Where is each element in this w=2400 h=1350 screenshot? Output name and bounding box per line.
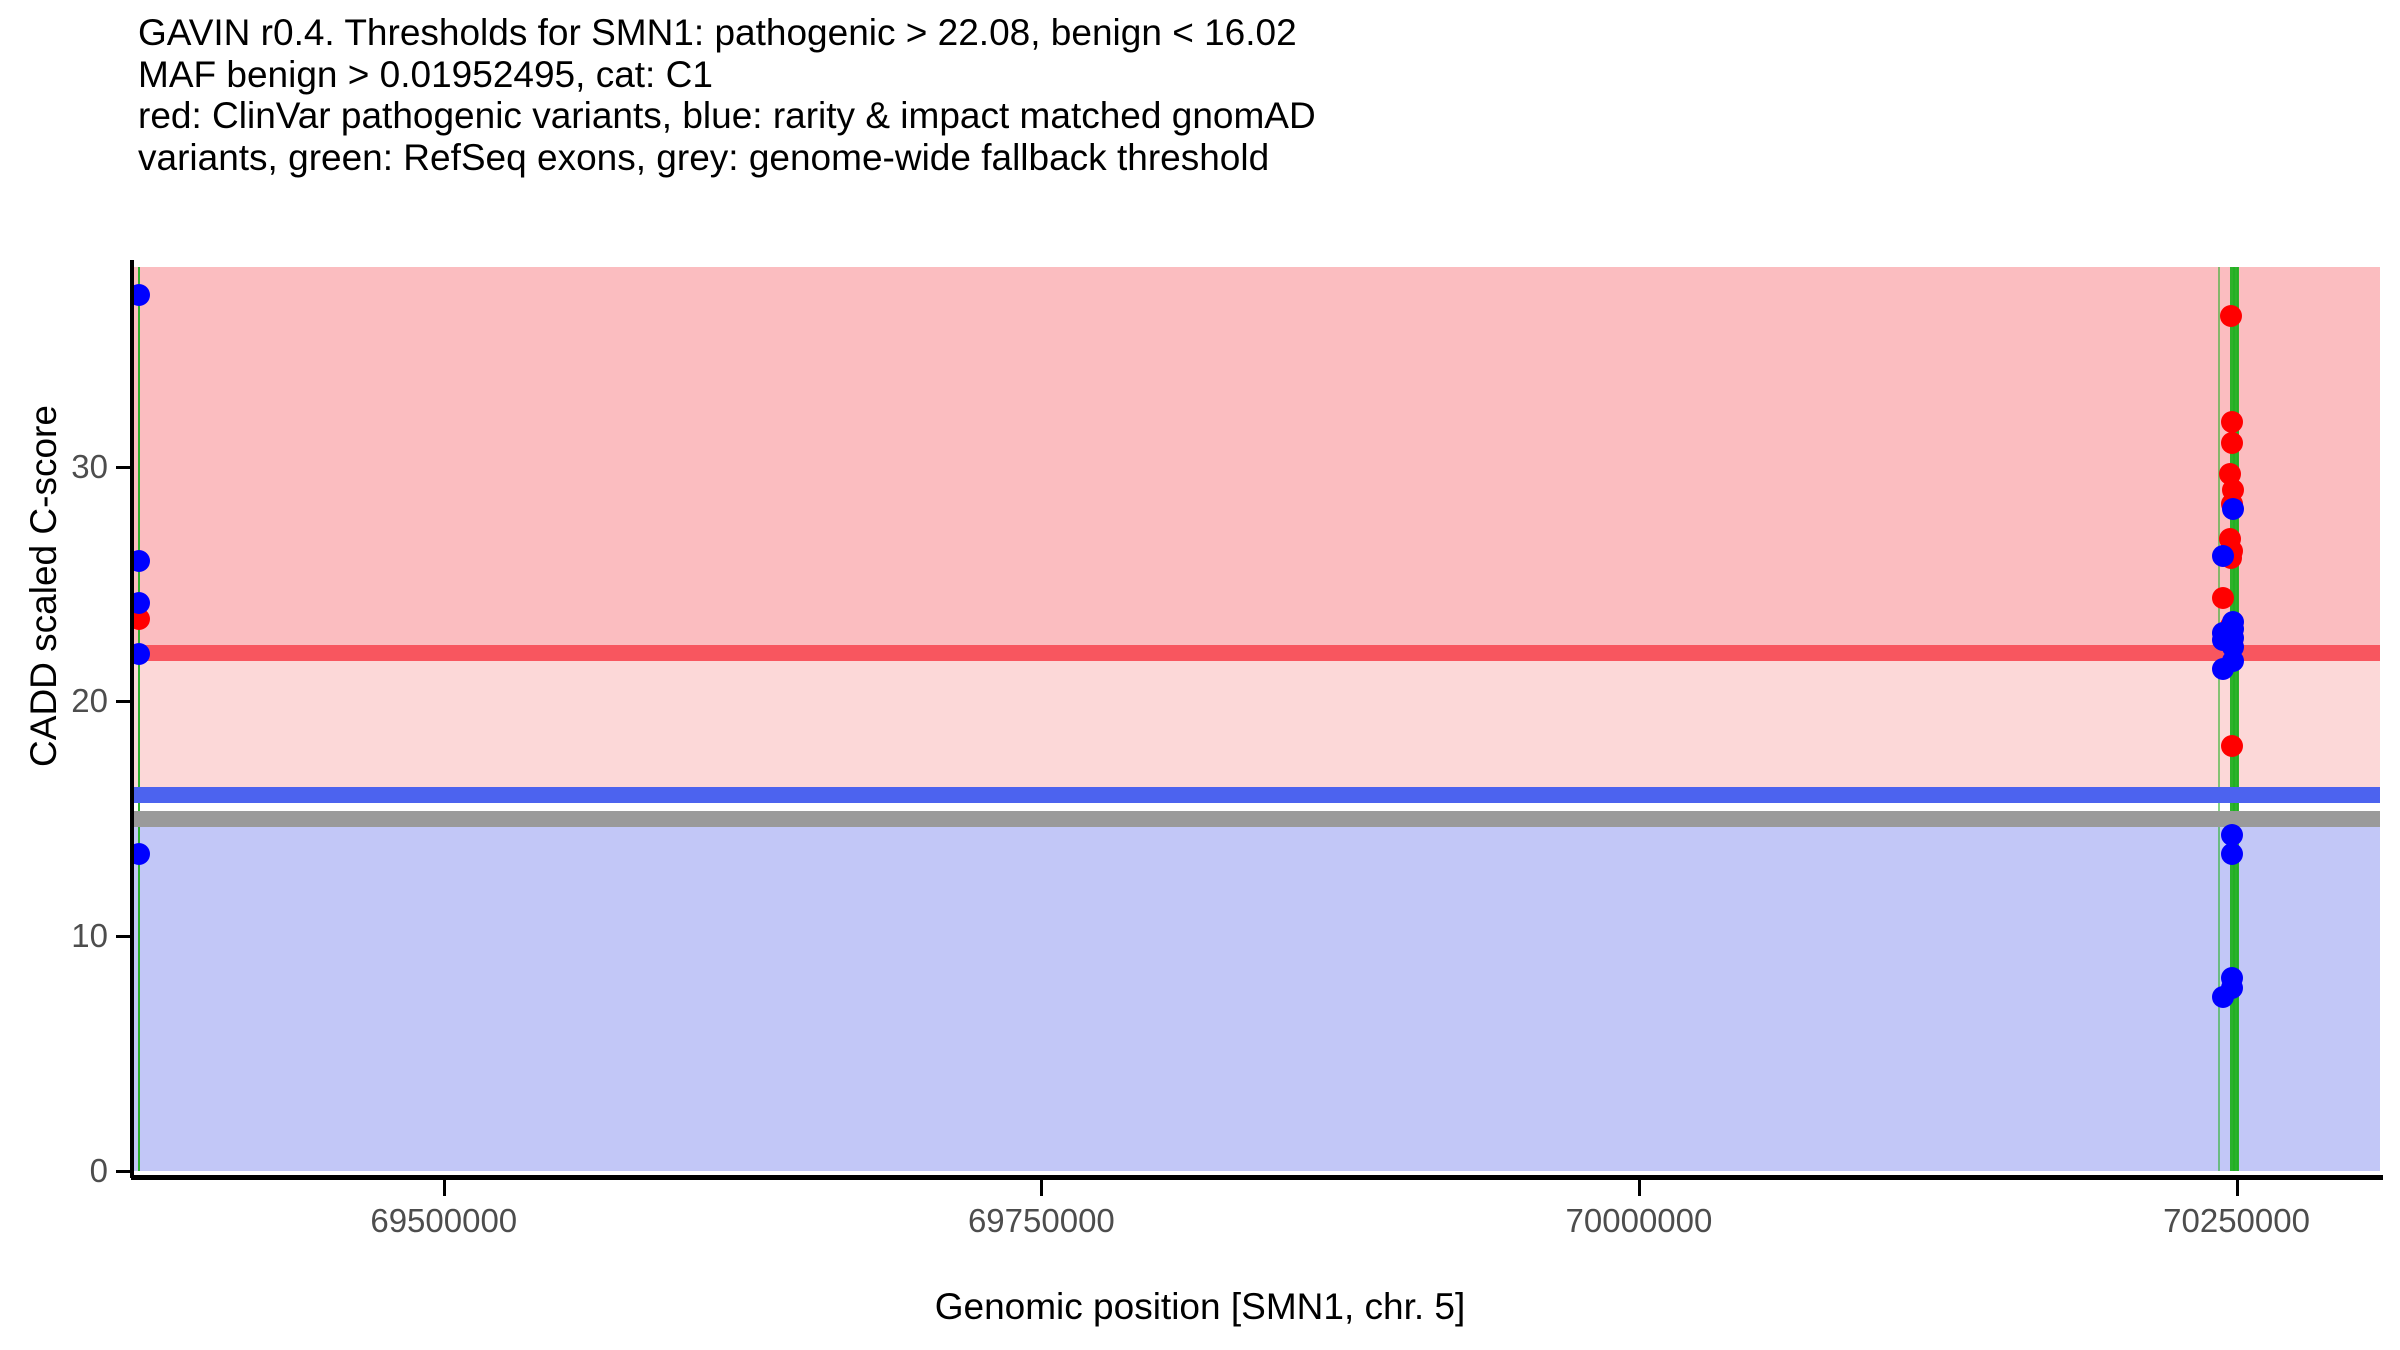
- point-pathogenic: [2212, 587, 2234, 609]
- title-line-2: MAF benign > 0.01952495, cat: C1: [138, 54, 2338, 96]
- y-tick-label: 30: [71, 448, 108, 486]
- chart-title: GAVIN r0.4. Thresholds for SMN1: pathoge…: [138, 12, 2338, 178]
- x-tick-label: 70250000: [2163, 1202, 2310, 1240]
- point-pathogenic: [2221, 411, 2243, 433]
- y-tick: [116, 1170, 130, 1173]
- exon-line: [2237, 267, 2239, 1171]
- pathogenic-zone: [133, 267, 2380, 653]
- vus-zone: [133, 653, 2380, 795]
- point-pathogenic: [2221, 432, 2243, 454]
- point-gnomad: [2212, 545, 2234, 567]
- y-axis-line: [130, 260, 134, 1178]
- point-gnomad: [2222, 498, 2244, 520]
- x-axis-ticks: 69500000697500007000000070250000: [0, 1180, 2400, 1250]
- y-tick: [116, 935, 130, 938]
- exon-line: [2218, 267, 2220, 1171]
- threshold-line-genome-wide-fallback: [133, 811, 2380, 827]
- plot-panel: [133, 267, 2380, 1171]
- point-gnomad: [2212, 986, 2234, 1008]
- point-gnomad: [133, 550, 150, 572]
- y-tick: [116, 466, 130, 469]
- x-tick: [1638, 1180, 1641, 1196]
- x-tick: [2236, 1180, 2239, 1196]
- y-tick-label: 10: [71, 917, 108, 955]
- point-gnomad: [2221, 622, 2243, 644]
- y-tick-label: 20: [71, 682, 108, 720]
- y-axis-label: CADD scaled C-score: [23, 206, 65, 966]
- x-tick: [443, 1180, 446, 1196]
- x-axis-label: Genomic position [SMN1, chr. 5]: [0, 1286, 2400, 1328]
- title-line-1: GAVIN r0.4. Thresholds for SMN1: pathoge…: [138, 12, 2338, 54]
- x-tick: [1040, 1180, 1043, 1196]
- x-tick-label: 70000000: [1566, 1202, 1713, 1240]
- y-tick: [116, 700, 130, 703]
- title-line-4: variants, green: RefSeq exons, grey: gen…: [138, 137, 2338, 179]
- threshold-line-benign: [133, 787, 2380, 803]
- point-gnomad: [2221, 843, 2243, 865]
- y-axis-ticks: 0102030: [0, 0, 130, 1350]
- x-tick-label: 69750000: [968, 1202, 1115, 1240]
- chart-root: GAVIN r0.4. Thresholds for SMN1: pathoge…: [0, 0, 2400, 1350]
- x-tick-label: 69500000: [370, 1202, 517, 1240]
- threshold-line-pathogenic: [133, 645, 2380, 661]
- point-pathogenic: [2221, 735, 2243, 757]
- exon-line: [138, 267, 140, 1171]
- title-line-3: red: ClinVar pathogenic variants, blue: …: [138, 95, 2338, 137]
- benign-zone: [133, 819, 2380, 1171]
